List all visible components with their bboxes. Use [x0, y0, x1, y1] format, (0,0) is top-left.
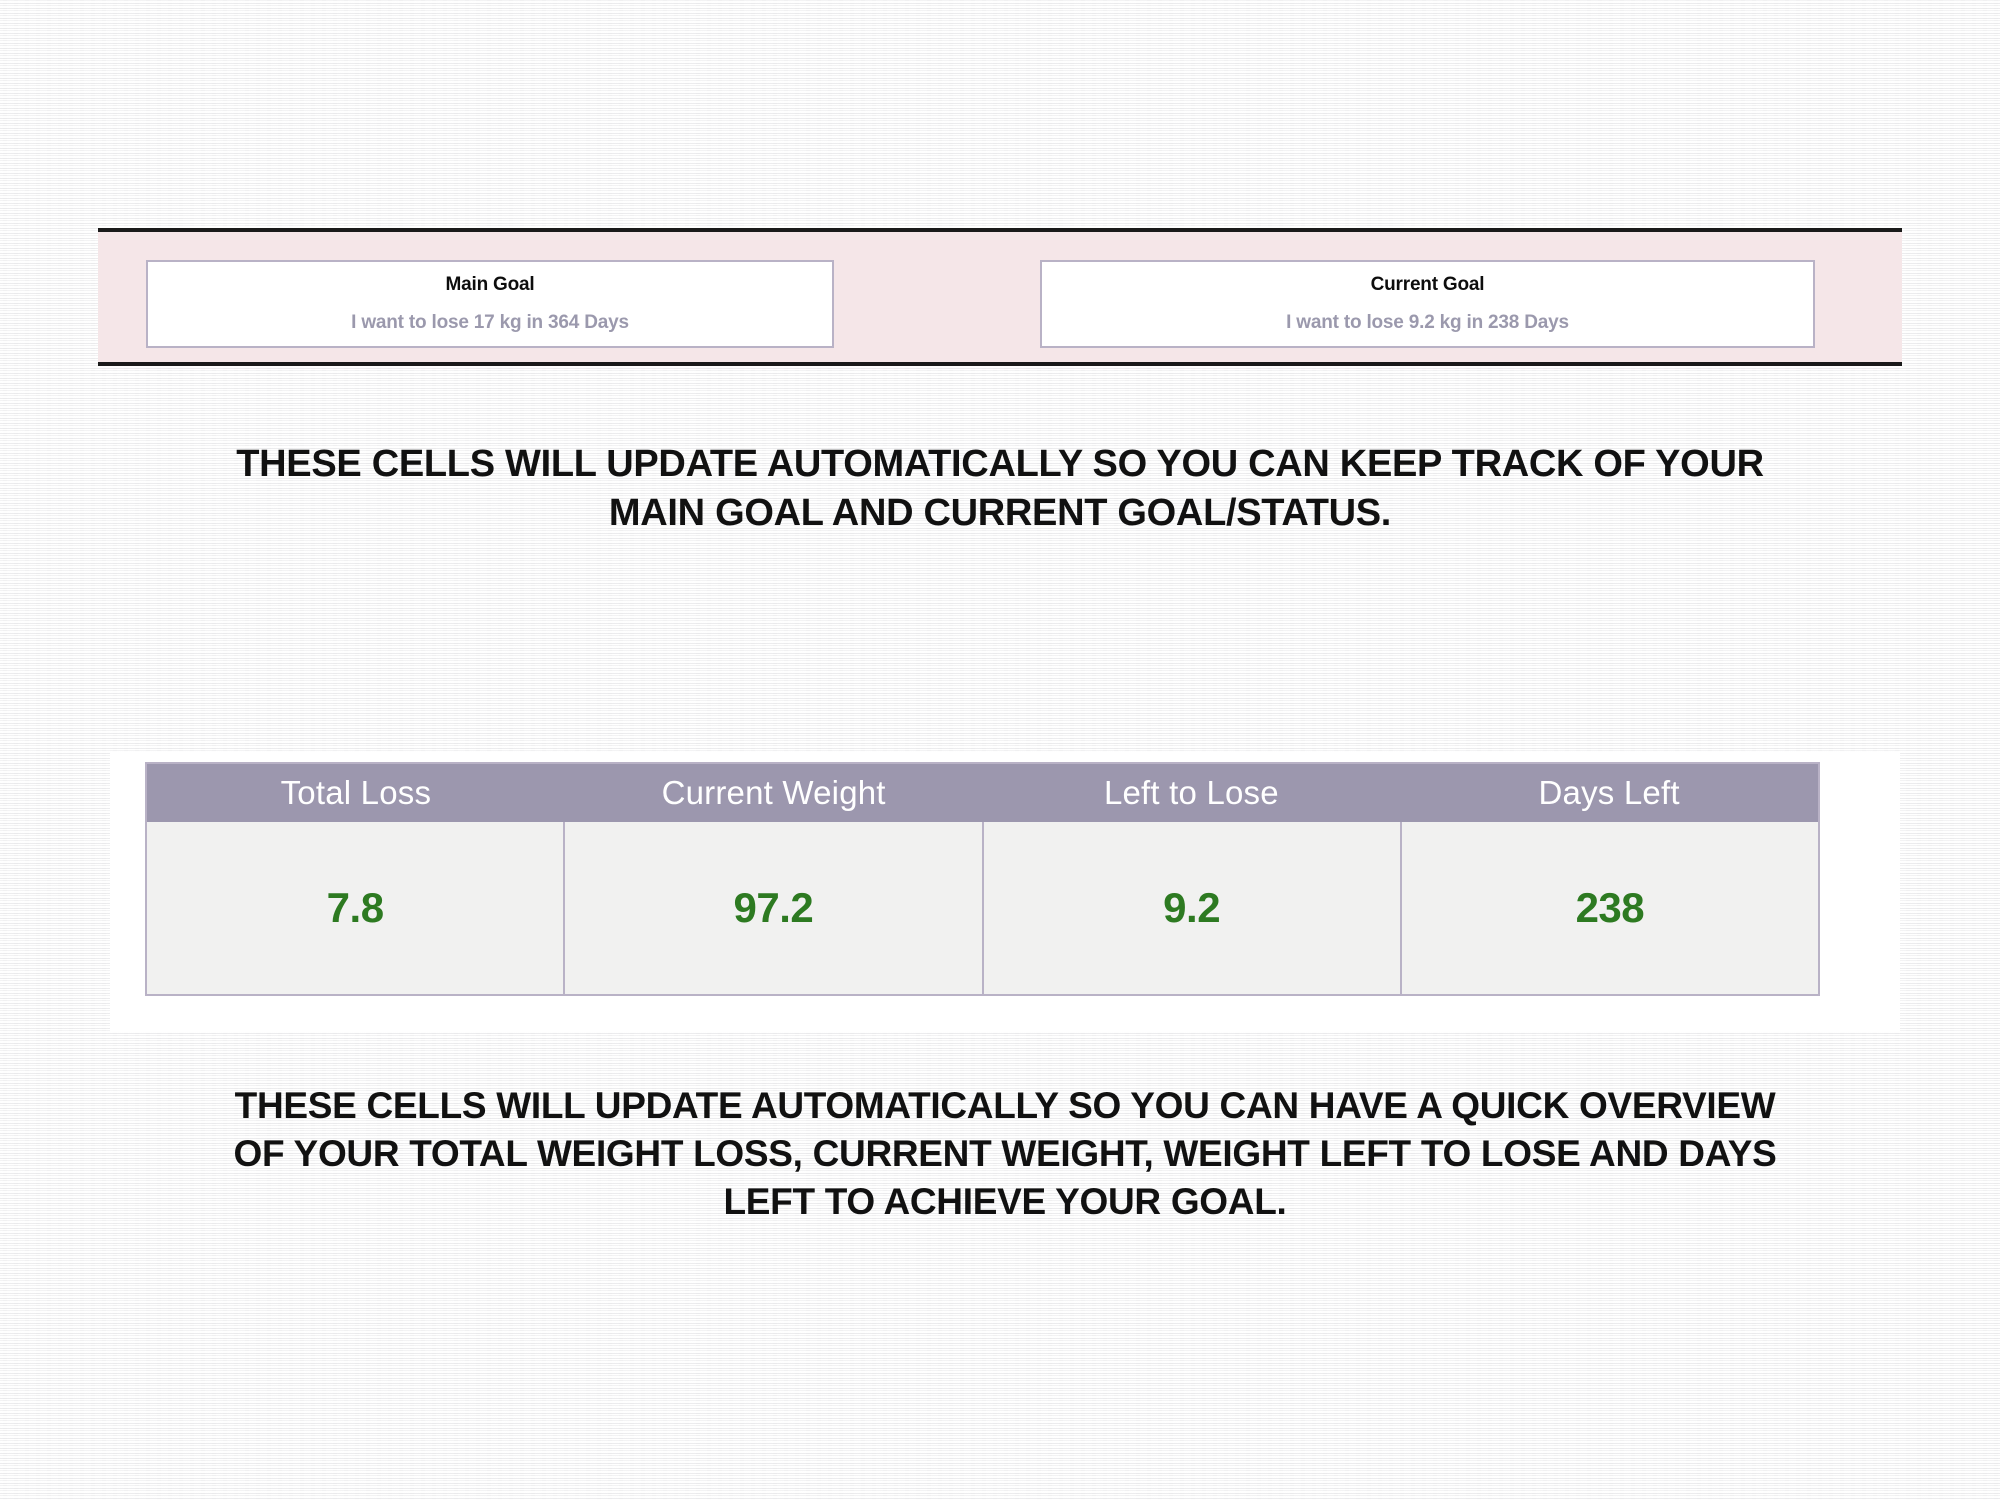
stats-header-total-loss: Total Loss [147, 764, 565, 822]
main-goal-subtitle: I want to lose 17 kg in 364 Days [351, 312, 629, 334]
stats-header-left-to-lose: Left to Lose [983, 764, 1401, 822]
current-goal-subtitle: I want to lose 9.2 kg in 238 Days [1286, 312, 1569, 334]
stats-table: Total Loss Current Weight Left to Lose D… [145, 762, 1820, 996]
stats-value-days-left[interactable]: 238 [1400, 822, 1818, 994]
stats-table-value-row: 7.8 97.2 9.2 238 [147, 822, 1818, 994]
main-goal-title: Main Goal [446, 274, 535, 296]
current-goal-card[interactable]: Current Goal I want to lose 9.2 kg in 23… [1040, 260, 1815, 348]
stats-panel: Total Loss Current Weight Left to Lose D… [110, 752, 1900, 1032]
stats-header-current-weight: Current Weight [565, 764, 983, 822]
stats-table-header-row: Total Loss Current Weight Left to Lose D… [147, 764, 1818, 822]
main-goal-card[interactable]: Main Goal I want to lose 17 kg in 364 Da… [146, 260, 834, 348]
stats-header-days-left: Days Left [1400, 764, 1818, 822]
goal-band: Main Goal I want to lose 17 kg in 364 Da… [98, 228, 1902, 366]
bottom-caption: THESE CELLS WILL UPDATE AUTOMATICALLY SO… [230, 1082, 1780, 1226]
current-goal-title: Current Goal [1371, 274, 1485, 296]
stats-value-left-to-lose[interactable]: 9.2 [982, 822, 1400, 994]
stats-value-total-loss[interactable]: 7.8 [147, 822, 563, 994]
top-caption: THESE CELLS WILL UPDATE AUTOMATICALLY SO… [190, 440, 1810, 537]
stats-value-current-weight[interactable]: 97.2 [563, 822, 981, 994]
